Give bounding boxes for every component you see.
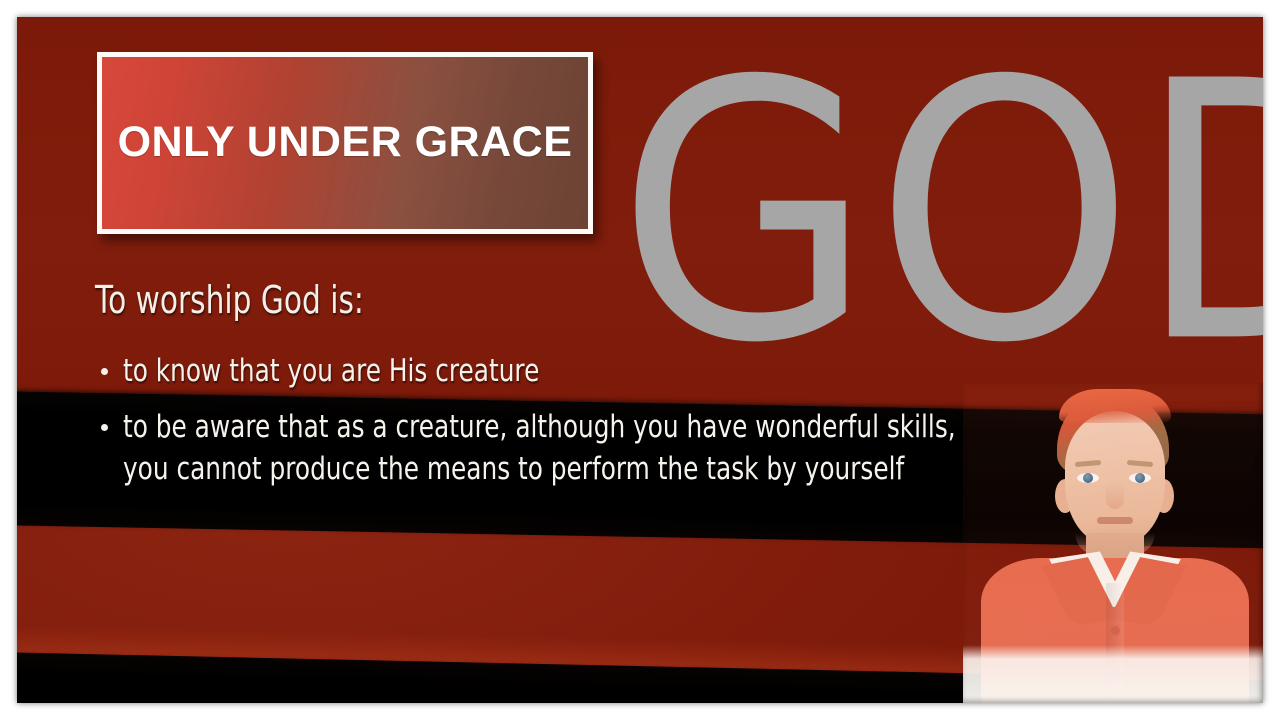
body-content: To worship God is: to know that you are … [95, 279, 995, 504]
eye-right-shape [1129, 473, 1151, 483]
nose-shape [1106, 483, 1124, 509]
bullet-list: to know that you are His creature to be … [95, 350, 995, 490]
photo-fade-overlay [963, 645, 1263, 703]
slide-canvas: GOD ONLY UNDER GRACE To worship God is: … [17, 17, 1263, 703]
iris-left-shape [1083, 473, 1093, 483]
mouth-shape [1097, 517, 1133, 524]
hair-highlight-shape [1059, 389, 1171, 423]
title-plate: ONLY UNDER GRACE [97, 52, 593, 234]
slide-title: ONLY UNDER GRACE [104, 113, 587, 172]
speaker-portrait-image [963, 383, 1263, 703]
lead-line: To worship God is: [95, 279, 797, 322]
list-item: to be aware that as a creature, although… [95, 406, 995, 490]
presentation-slide: GOD ONLY UNDER GRACE To worship God is: … [0, 0, 1280, 720]
iris-right-shape [1135, 473, 1145, 483]
bullet-text: to know that you are His creature [123, 350, 995, 392]
bullet-text: to be aware that as a creature, although… [123, 406, 995, 490]
speaker-photo [963, 383, 1263, 703]
shirt-button-upper [1112, 627, 1119, 634]
list-item: to know that you are His creature [95, 350, 995, 392]
eye-left-shape [1077, 473, 1099, 483]
